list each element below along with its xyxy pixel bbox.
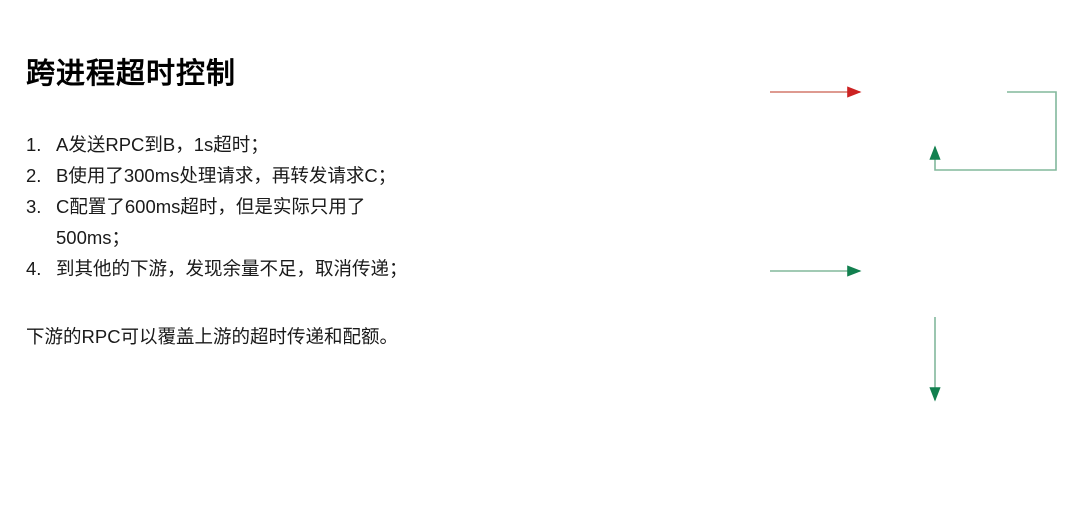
list-item-continuation: 500ms；: [26, 223, 496, 253]
list-item-text: 到其他的下游，发现余量不足，取消传递；: [56, 254, 496, 284]
numbered-steps-list: 1. A发送RPC到B，1s超时； 2. B使用了300ms处理请求，再转发请求…: [26, 130, 496, 285]
list-item: 4. 到其他的下游，发现余量不足，取消传递；: [26, 254, 496, 284]
list-item-number: 4.: [26, 254, 56, 284]
list-item-text: C配置了600ms超时，但是实际只用了: [56, 192, 496, 222]
list-item: 2. B使用了300ms处理请求，再转发请求C；: [26, 161, 496, 191]
architecture-diagram: 1s service A timeout 2s service B deadli…: [600, 0, 1080, 530]
list-item: 1. A发送RPC到B，1s超时；: [26, 130, 496, 160]
list-item-text: A发送RPC到B，1s超时；: [56, 130, 496, 160]
closing-note: 下游的RPC可以覆盖上游的超时传递和配额。: [26, 322, 398, 352]
list-item-number: 1.: [26, 130, 56, 160]
text-pane: 跨进程超时控制 1. A发送RPC到B，1s超时； 2. B使用了300ms处理…: [0, 0, 600, 530]
list-item: 3. C配置了600ms超时，但是实际只用了: [26, 192, 496, 222]
list-item-number: 3.: [26, 192, 56, 222]
list-item-number: 2.: [26, 161, 56, 191]
diagram-connectors-layer: [600, 0, 1080, 530]
edge-top-b-loopback: [935, 92, 1056, 170]
list-item-text: B使用了300ms处理请求，再转发请求C；: [56, 161, 496, 191]
page-title: 跨进程超时控制: [26, 50, 236, 92]
list-item-text: 500ms；: [56, 223, 496, 253]
